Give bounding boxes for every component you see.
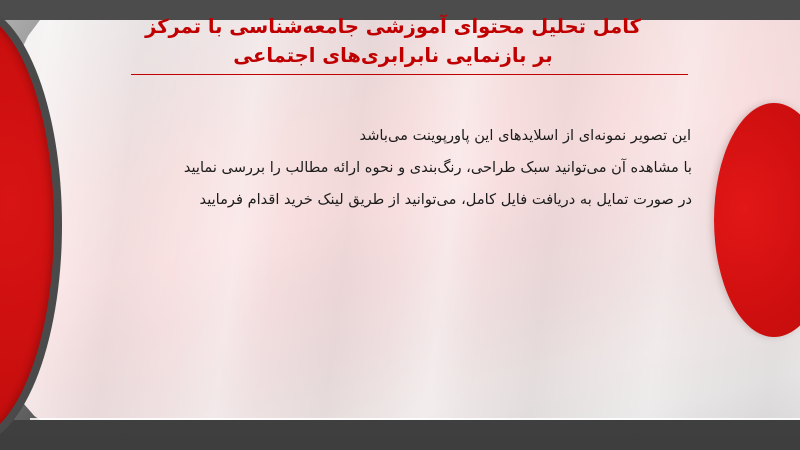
slide-content-panel bbox=[0, 20, 800, 420]
presentation-slide: کامل تحلیل محتوای آموزشی جامعه‌شناسی با … bbox=[0, 0, 800, 450]
title-underline-rule bbox=[131, 74, 688, 75]
slide-body-line-1: این تصویر نمونه‌ای از اسلایدهای این پاور… bbox=[92, 120, 691, 152]
slide-body-text: این تصویر نمونه‌ای از اسلایدهای این پاور… bbox=[92, 120, 692, 216]
slide-body-line-2: با مشاهده آن می‌توانید سبک طراحی، رنگ‌بن… bbox=[92, 152, 692, 184]
slide-title: کامل تحلیل محتوای آموزشی جامعه‌شناسی با … bbox=[98, 12, 688, 70]
slide-title-line-2: بر بازنمایی نابرابری‌های اجتماعی bbox=[98, 41, 688, 70]
panel-bottom-highlight bbox=[30, 418, 800, 420]
slide-content-panel-wrapper bbox=[0, 20, 800, 420]
slide-title-line-1: کامل تحلیل محتوای آموزشی جامعه‌شناسی با … bbox=[98, 12, 688, 41]
slide-body-line-3: در صورت تمایل به دریافت فایل کامل، می‌تو… bbox=[92, 184, 692, 216]
